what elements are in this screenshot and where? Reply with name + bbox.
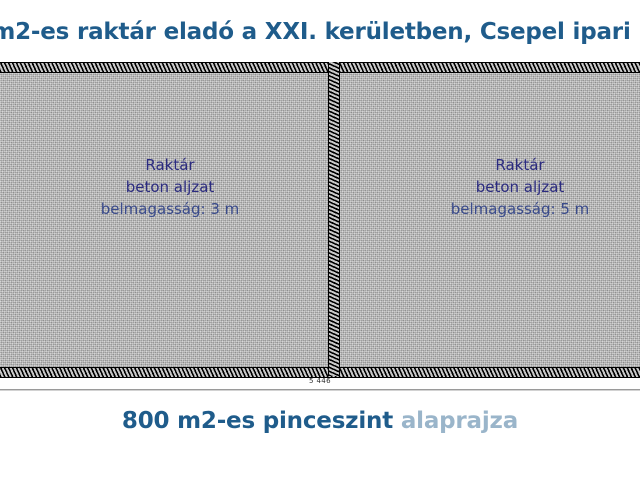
- floorplan-drawing: Raktár beton aljzat belmagasság: 3 m Rak…: [0, 62, 640, 380]
- page-title-text: m2-es raktár eladó a XXI. kerületben, Cs…: [0, 15, 631, 49]
- room-left-floor: beton aljzat: [40, 176, 300, 198]
- room-label-right: Raktár beton aljzat belmagasság: 5 m: [390, 154, 640, 220]
- wall-center-divider: [328, 62, 340, 376]
- room-fill-left: [0, 72, 330, 370]
- dimension-line-group: 5 446: [0, 380, 640, 396]
- dimension-line-shadow: [0, 390, 640, 391]
- room-fill-right: [340, 72, 640, 370]
- floorplan-caption: 800 m2-es pinceszint alaprajza: [0, 398, 640, 444]
- room-left-name: Raktár: [40, 154, 300, 176]
- caption-area: 800 m2-es pinceszint alaprajza: [0, 398, 640, 444]
- dimension-value: 5 446: [0, 377, 640, 385]
- room-right-height: belmagasság: 5 m: [390, 198, 640, 220]
- room-label-left: Raktár beton aljzat belmagasság: 3 m: [40, 154, 300, 220]
- room-left-height: belmagasság: 3 m: [40, 198, 300, 220]
- floorplan-screenshot: m2-es raktár eladó a XXI. kerületben, Cs…: [0, 0, 640, 480]
- room-right-floor: beton aljzat: [390, 176, 640, 198]
- page-title: m2-es raktár eladó a XXI. kerületben, Cs…: [0, 15, 640, 49]
- wall-top: [0, 62, 640, 73]
- room-right-name: Raktár: [390, 154, 640, 176]
